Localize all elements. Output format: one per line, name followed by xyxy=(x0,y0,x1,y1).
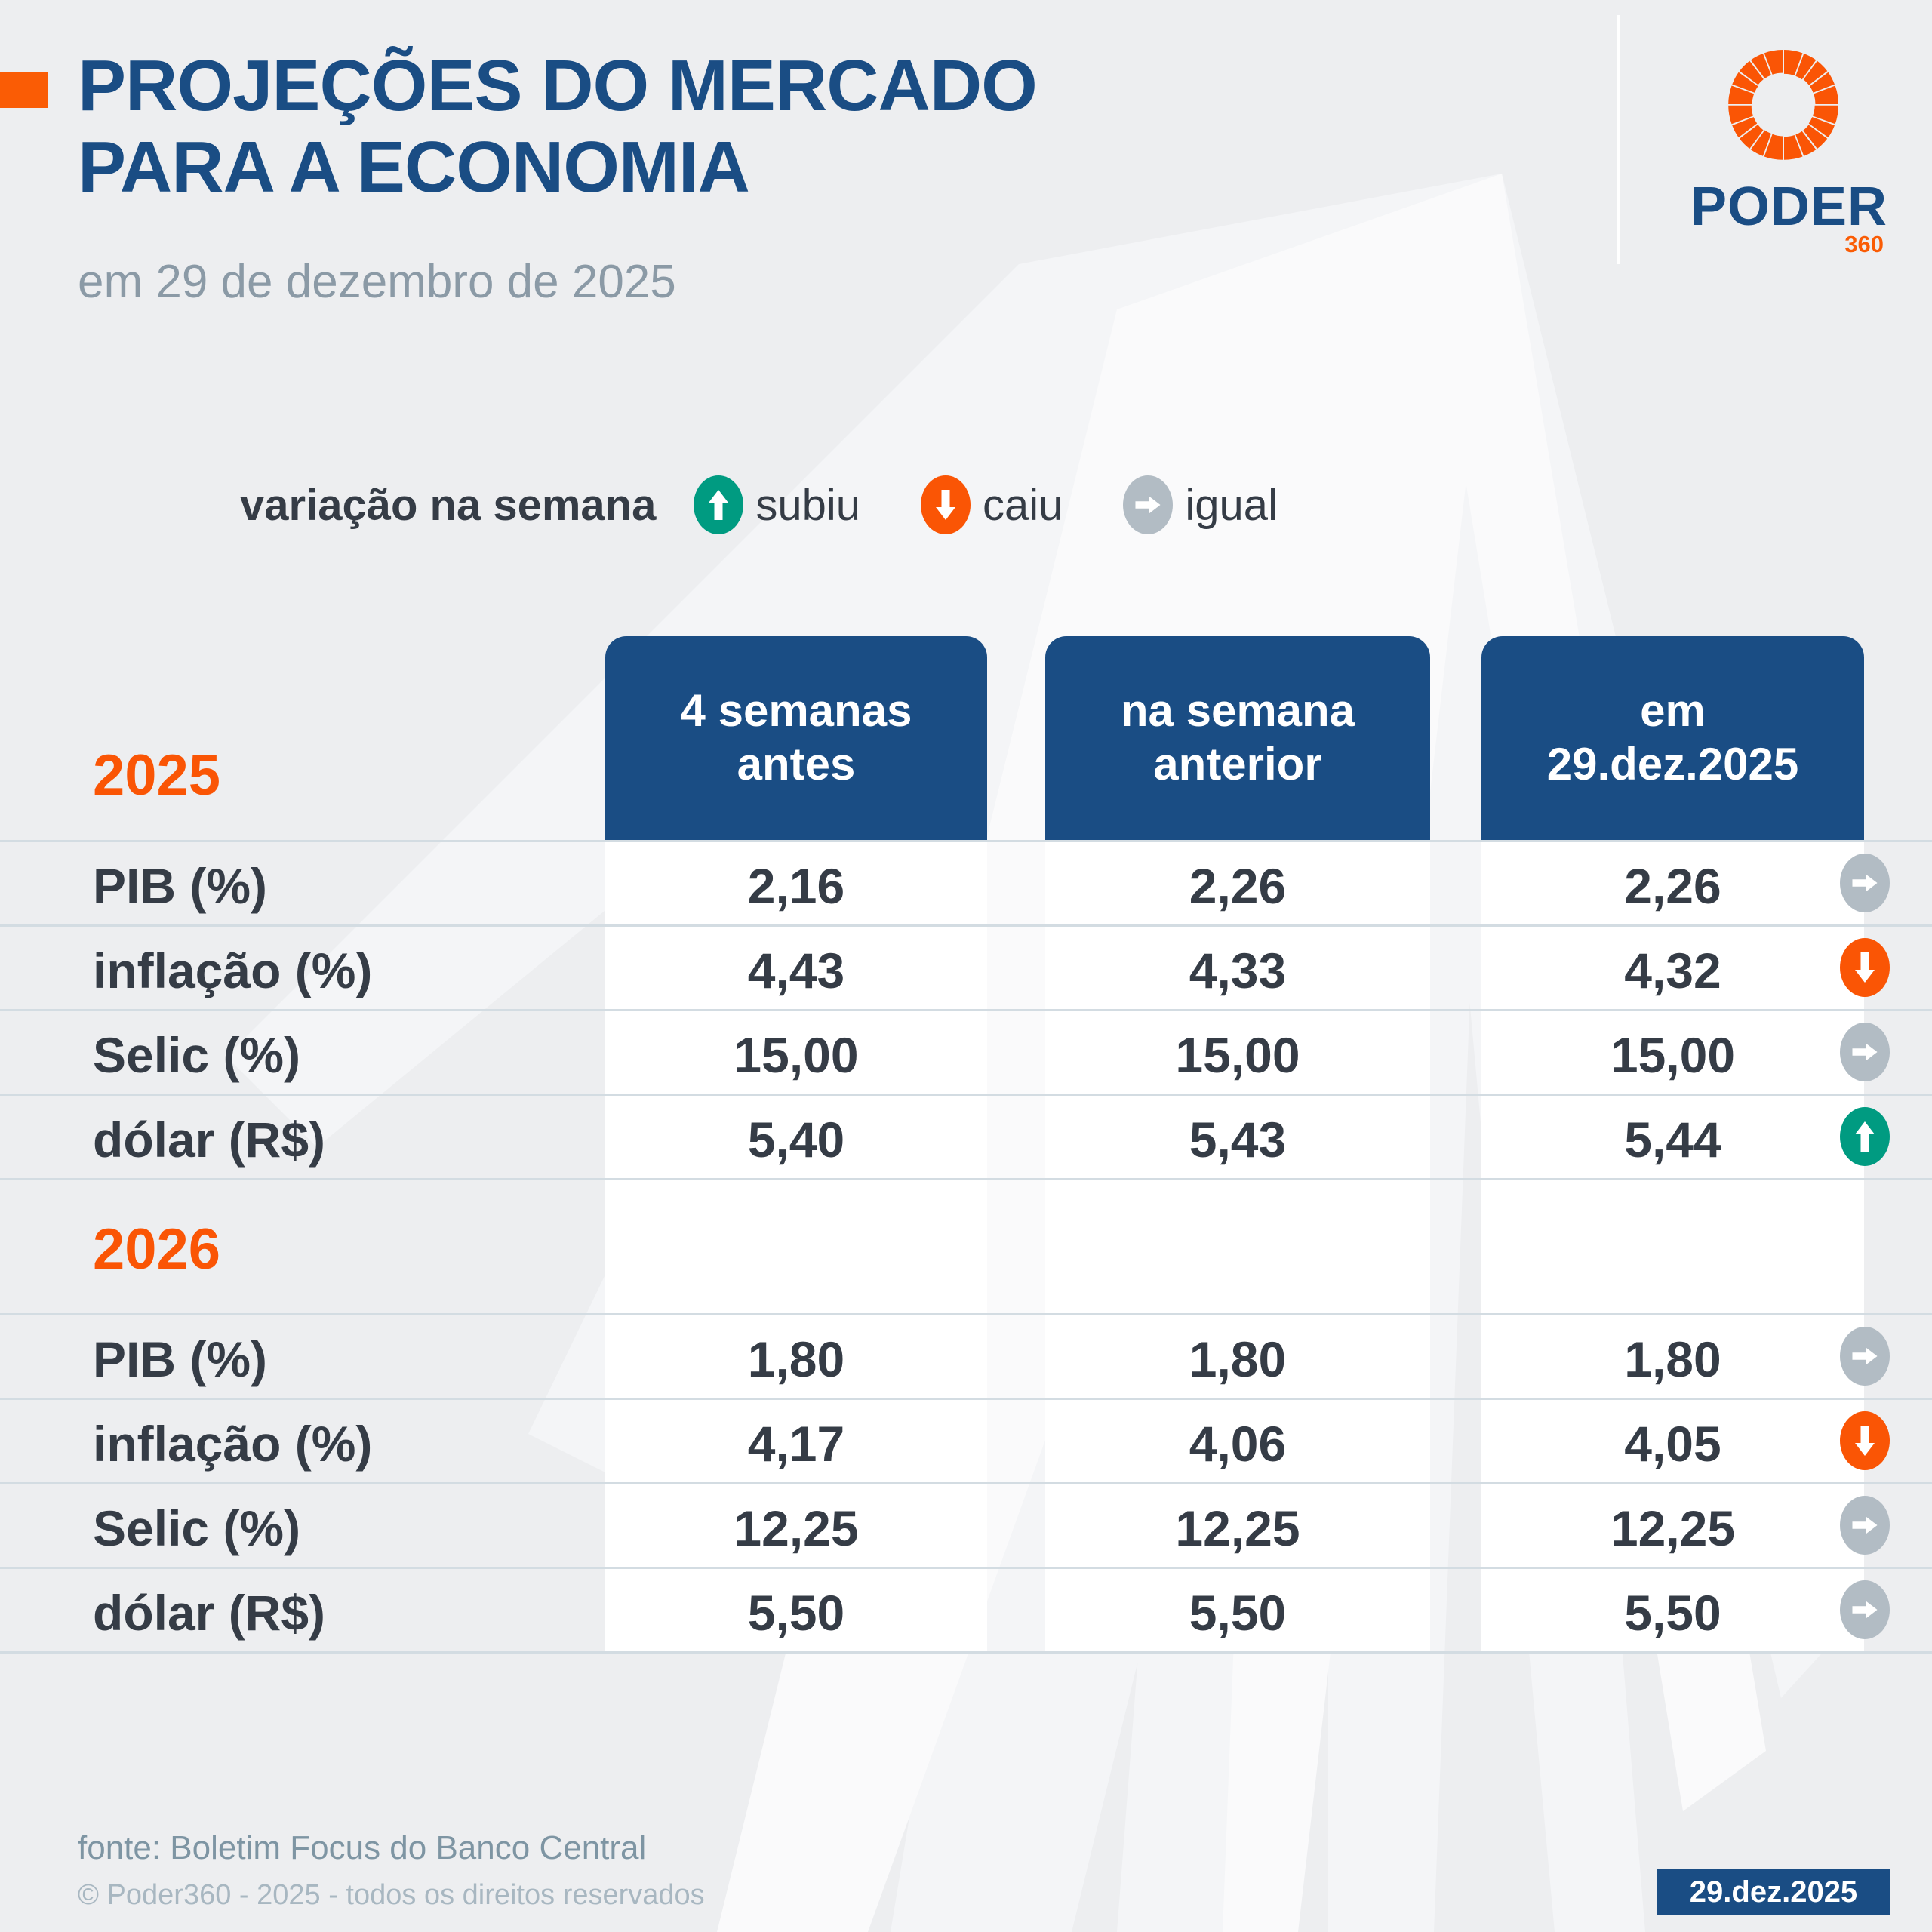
table-cell-value: 5,44 xyxy=(1481,1111,1864,1168)
table-row-label: PIB (%) xyxy=(93,1331,267,1388)
arrow-up-icon xyxy=(694,475,743,534)
table-row-separator xyxy=(0,1178,1932,1180)
arrow-down-icon xyxy=(921,475,971,534)
table-cell-value: 4,33 xyxy=(1045,942,1430,999)
table-row-separator xyxy=(0,1009,1932,1011)
table-row-label: dólar (R$) xyxy=(93,1584,325,1641)
table-cell-value: 5,50 xyxy=(1045,1584,1430,1641)
page-title-line-1: PROJEÇÕES DO MERCADO xyxy=(78,45,1037,126)
table-row-label: PIB (%) xyxy=(93,857,267,915)
legend-label-subiu: subiu xyxy=(755,480,860,531)
legend-item-igual: igual xyxy=(1123,475,1278,534)
table-column-header-label-2: em29.dez.2025 xyxy=(1547,685,1799,792)
legend-item-caiu: caiu xyxy=(921,475,1063,534)
infographic-canvas: PROJEÇÕES DO MERCADO PARA A ECONOMIA em … xyxy=(0,0,1932,1932)
table-column-header-label-0: 4 semanasantes xyxy=(681,685,912,792)
accent-tab xyxy=(0,72,48,108)
poder360-logo[interactable]: PODER 360 xyxy=(1690,36,1887,263)
table-row-label: dólar (R$) xyxy=(93,1111,325,1168)
source-note: fonte: Boletim Focus do Banco Central xyxy=(78,1829,646,1867)
table-cell-value: 2,26 xyxy=(1045,857,1430,915)
trend-arrow-right-icon xyxy=(1840,1580,1890,1639)
table-column-header-0: 4 semanasantes xyxy=(605,636,987,840)
trend-arrow-down-icon xyxy=(1840,1411,1890,1470)
trend-arrow-right-icon xyxy=(1840,1327,1890,1386)
legend-label-igual: igual xyxy=(1185,480,1278,531)
table-cell-value: 12,25 xyxy=(1481,1500,1864,1557)
date-badge: 29.dez.2025 xyxy=(1657,1869,1890,1915)
table-cell-value: 4,43 xyxy=(605,942,987,999)
table-cell-value: 12,25 xyxy=(1045,1500,1430,1557)
copyright-note: © Poder360 - 2025 - todos os direitos re… xyxy=(78,1879,705,1912)
table-cell-value: 4,05 xyxy=(1481,1415,1864,1472)
table-cell-value: 5,40 xyxy=(605,1111,987,1168)
table-column-header-label-1: na semanaanterior xyxy=(1121,685,1355,792)
table-row-separator xyxy=(0,1094,1932,1096)
table-cell-value: 2,26 xyxy=(1481,857,1864,915)
table-row-separator xyxy=(0,1567,1932,1569)
logo-wordmark: PODER xyxy=(1690,180,1887,234)
table-row-label: inflação (%) xyxy=(93,1415,372,1472)
trend-arrow-right-icon xyxy=(1840,1023,1890,1081)
table-row-label: Selic (%) xyxy=(93,1026,300,1084)
table-row-separator xyxy=(0,924,1932,927)
table-cell-value: 1,80 xyxy=(1045,1331,1430,1388)
logo-suffix: 360 xyxy=(1844,231,1884,258)
table-cell-value: 15,00 xyxy=(605,1026,987,1084)
table-cell-value: 4,17 xyxy=(605,1415,987,1472)
page-title: PROJEÇÕES DO MERCADO PARA A ECONOMIA xyxy=(78,45,1436,208)
page-subtitle: em 29 de dezembro de 2025 xyxy=(78,255,676,309)
table-cell-value: 15,00 xyxy=(1481,1026,1864,1084)
table-cell-value: 1,80 xyxy=(605,1331,987,1388)
legend-title: variação na semana xyxy=(240,480,656,531)
legend: variação na semana subiu caiu igual xyxy=(240,475,1278,534)
table-cell-value: 15,00 xyxy=(1045,1026,1430,1084)
section-year-2025: 2025 xyxy=(93,743,220,808)
table-cell-value: 5,50 xyxy=(605,1584,987,1641)
page-title-line-2: PARA A ECONOMIA xyxy=(78,127,1436,208)
table-column-header-1: na semanaanterior xyxy=(1045,636,1430,840)
table-row-label: inflação (%) xyxy=(93,942,372,999)
table-cell-value: 4,06 xyxy=(1045,1415,1430,1472)
table-row-label: Selic (%) xyxy=(93,1500,300,1557)
sunburst-logo-icon xyxy=(1716,36,1852,172)
table-cell-value: 5,50 xyxy=(1481,1584,1864,1641)
trend-arrow-right-icon xyxy=(1840,854,1890,912)
trend-arrow-down-icon xyxy=(1840,938,1890,997)
legend-item-subiu: subiu xyxy=(694,475,860,534)
table-row-separator xyxy=(0,1482,1932,1484)
table-cell-value: 12,25 xyxy=(605,1500,987,1557)
table-cell-value: 1,80 xyxy=(1481,1331,1864,1388)
trend-arrow-right-icon xyxy=(1840,1496,1890,1555)
header-divider xyxy=(1617,15,1620,264)
arrow-right-icon xyxy=(1123,475,1173,534)
table-row-separator xyxy=(0,1398,1932,1400)
table-cell-value: 4,32 xyxy=(1481,942,1864,999)
section-year-2026: 2026 xyxy=(93,1217,220,1282)
table-row-separator xyxy=(0,1651,1932,1654)
legend-label-caiu: caiu xyxy=(983,480,1063,531)
table-column-header-2: em29.dez.2025 xyxy=(1481,636,1864,840)
trend-arrow-up-icon xyxy=(1840,1107,1890,1166)
table-cell-value: 2,16 xyxy=(605,857,987,915)
table-row-separator xyxy=(0,1313,1932,1315)
table-row-separator xyxy=(0,840,1932,842)
table-cell-value: 5,43 xyxy=(1045,1111,1430,1168)
